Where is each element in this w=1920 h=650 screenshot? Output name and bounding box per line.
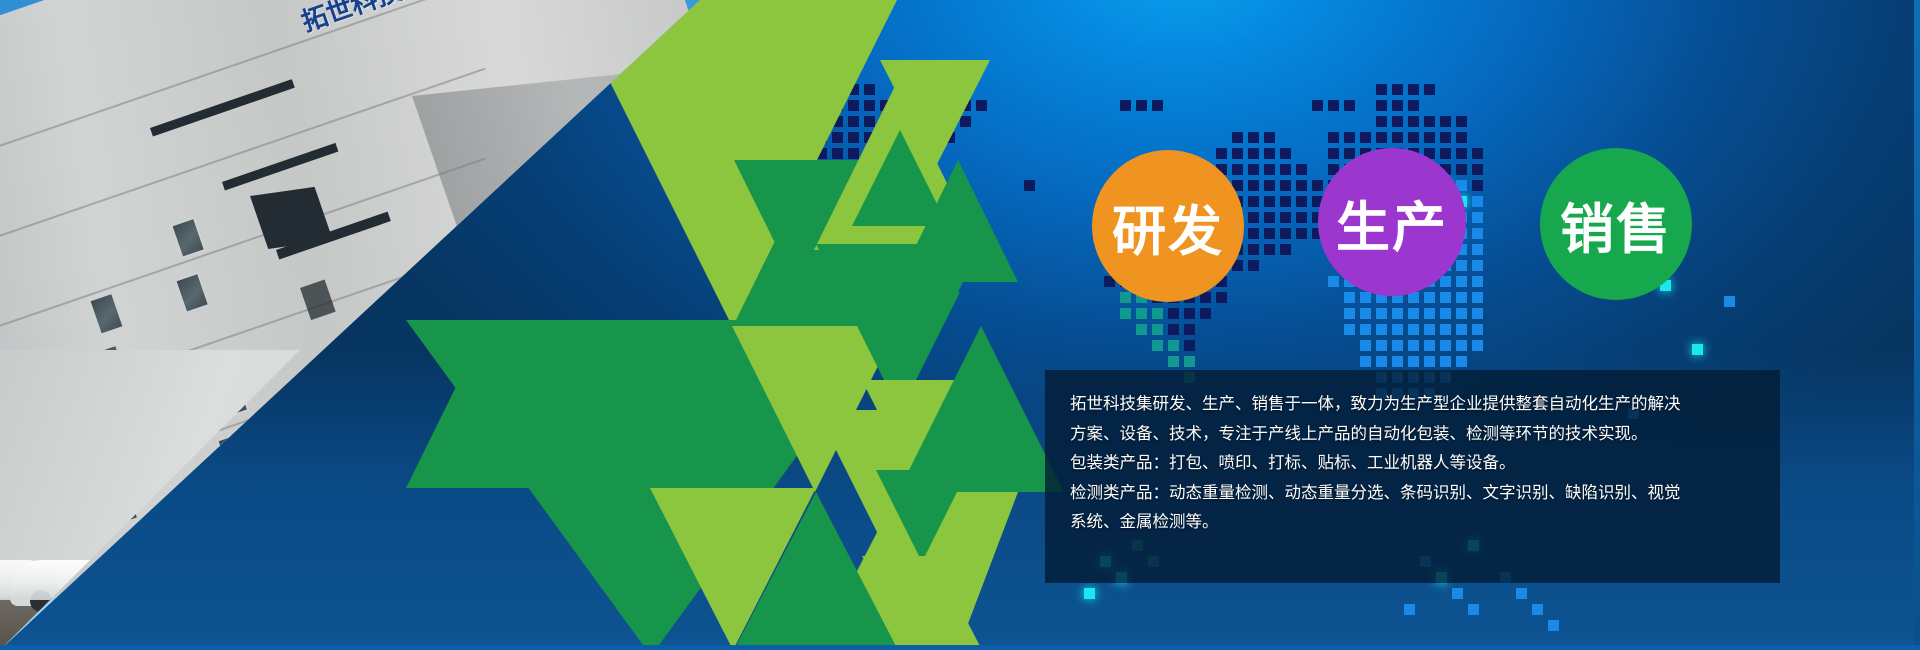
- map-dot: [1248, 260, 1259, 271]
- map-dot: [1472, 260, 1483, 271]
- map-dot: [1456, 116, 1467, 127]
- map-dot: [1472, 308, 1483, 319]
- map-dot: [1184, 308, 1195, 319]
- description-text: 拓世科技集研发、生产、销售于一体，致力为生产型企业提供整套自动化生产的解决 方案…: [1070, 389, 1681, 537]
- map-dot: [1440, 308, 1451, 319]
- description-line-3: 包装类产品：打包、喷印、打标、贴标、工业机器人等设备。: [1070, 448, 1681, 478]
- map-dot: [1328, 276, 1339, 287]
- map-dot: [1168, 324, 1179, 335]
- map-dot: [1408, 340, 1419, 351]
- badge-sales-label: 销售: [1560, 185, 1672, 264]
- map-dot: [1360, 356, 1371, 367]
- map-dot: [1424, 84, 1435, 95]
- map-dot: [1440, 116, 1451, 127]
- map-dot: [1456, 308, 1467, 319]
- map-dot: [1456, 148, 1467, 159]
- map-dot: [1376, 116, 1387, 127]
- map-dot: [1296, 196, 1307, 207]
- map-dot: [1248, 180, 1259, 191]
- map-dot: [1440, 276, 1451, 287]
- badge-sales[interactable]: 销售: [1540, 148, 1692, 300]
- map-dot: [1456, 340, 1467, 351]
- map-dot: [1376, 100, 1387, 111]
- map-dot: [1184, 324, 1195, 335]
- map-dot: [1408, 324, 1419, 335]
- map-dot: [1120, 100, 1131, 111]
- map-dot: [1456, 164, 1467, 175]
- map-dot: [1328, 132, 1339, 143]
- map-dot: [1456, 356, 1467, 367]
- map-dot: [1456, 292, 1467, 303]
- map-dot: [1408, 116, 1419, 127]
- map-dot: [1264, 244, 1275, 255]
- map-dot: [1248, 196, 1259, 207]
- map-dot: [1472, 324, 1483, 335]
- description-line-4: 检测类产品：动态重量检测、动态重量分选、条码识别、文字识别、缺陷识别、视觉: [1070, 478, 1681, 508]
- map-dot: [1248, 132, 1259, 143]
- map-dot: [1280, 212, 1291, 223]
- map-dot: [1136, 100, 1147, 111]
- map-dot: [1264, 164, 1275, 175]
- map-dot: [1120, 292, 1131, 303]
- map-dot: [1376, 308, 1387, 319]
- description-line-2: 方案、设备、技术，专注于产线上产品的自动化包装、检测等环节的技术实现。: [1070, 419, 1681, 449]
- map-dot: [1440, 148, 1451, 159]
- map-dot: [1408, 100, 1419, 111]
- badge-rd[interactable]: 研发: [1092, 150, 1244, 302]
- map-dot: [1408, 308, 1419, 319]
- map-dot: [1344, 132, 1355, 143]
- map-dot-accent: [1452, 588, 1463, 599]
- map-dot: [1248, 164, 1259, 175]
- map-dot: [1168, 340, 1179, 351]
- map-dot: [1280, 148, 1291, 159]
- badge-production-label: 生产: [1336, 183, 1448, 262]
- map-dot: [1440, 292, 1451, 303]
- map-dot: [1136, 324, 1147, 335]
- map-dot: [1424, 308, 1435, 319]
- map-dot: [1280, 196, 1291, 207]
- map-dot: [1376, 324, 1387, 335]
- map-dot: [1376, 132, 1387, 143]
- map-dot: [1440, 132, 1451, 143]
- map-dot: [1296, 212, 1307, 223]
- map-dot: [1392, 84, 1403, 95]
- map-dot: [1376, 84, 1387, 95]
- map-dot: [1344, 292, 1355, 303]
- map-dot: [1216, 148, 1227, 159]
- map-dot: [1248, 148, 1259, 159]
- map-dot: [1296, 228, 1307, 239]
- map-dot: [1408, 132, 1419, 143]
- map-dot: [1264, 212, 1275, 223]
- map-dot: [1392, 356, 1403, 367]
- map-dot: [1184, 356, 1195, 367]
- map-dot: [1360, 340, 1371, 351]
- map-dot-accent: [1548, 620, 1559, 631]
- map-dot: [1248, 212, 1259, 223]
- map-dot: [1296, 180, 1307, 191]
- map-dot: [1472, 180, 1483, 191]
- map-dot: [1472, 212, 1483, 223]
- map-dot-accent: [1404, 604, 1415, 615]
- map-dot: [1392, 116, 1403, 127]
- map-dot: [1392, 132, 1403, 143]
- map-dot: [1232, 148, 1243, 159]
- map-dot: [1152, 308, 1163, 319]
- map-dot: [1392, 100, 1403, 111]
- map-dot: [1472, 340, 1483, 351]
- map-dot: [1424, 356, 1435, 367]
- map-dot: [1456, 132, 1467, 143]
- map-dot: [1424, 324, 1435, 335]
- map-dot-accent: [1468, 604, 1479, 615]
- map-dot: [1152, 324, 1163, 335]
- map-dot: [1328, 148, 1339, 159]
- map-dot: [1360, 292, 1371, 303]
- map-dot: [1152, 340, 1163, 351]
- map-dot: [1376, 356, 1387, 367]
- map-dot: [1408, 84, 1419, 95]
- map-dot: [1264, 132, 1275, 143]
- map-dot: [1472, 276, 1483, 287]
- map-dot: [1424, 116, 1435, 127]
- map-dot: [1120, 308, 1131, 319]
- map-dot: [1184, 340, 1195, 351]
- description-panel: 拓世科技集研发、生产、销售于一体，致力为生产型企业提供整套自动化生产的解决 方案…: [1045, 370, 1780, 583]
- map-dot: [1456, 324, 1467, 335]
- company-hero-banner: 拓世科技 研发 生产 销售 拓世科技集研发、生产、销售于一体，致力为生产型企业提…: [0, 0, 1920, 650]
- map-dot-accent: [1532, 604, 1543, 615]
- map-dot: [1472, 244, 1483, 255]
- map-dot: [1200, 308, 1211, 319]
- map-dot: [1472, 228, 1483, 239]
- map-dot: [1424, 292, 1435, 303]
- map-dot-accent: [1724, 296, 1735, 307]
- map-dot: [1344, 100, 1355, 111]
- map-dot: [1456, 276, 1467, 287]
- badge-rd-label: 研发: [1112, 187, 1224, 266]
- map-dot: [1280, 244, 1291, 255]
- map-dot: [1392, 324, 1403, 335]
- map-dot: [1280, 228, 1291, 239]
- bottom-edge-rim: [0, 645, 1920, 650]
- map-dot: [1424, 340, 1435, 351]
- map-dot: [1264, 148, 1275, 159]
- map-dot: [1168, 356, 1179, 367]
- map-dot: [1456, 260, 1467, 271]
- map-dot: [1440, 340, 1451, 351]
- map-dot-accent: [1692, 344, 1703, 355]
- map-dot: [1344, 308, 1355, 319]
- map-dot: [1248, 244, 1259, 255]
- description-line-1: 拓世科技集研发、生产、销售于一体，致力为生产型企业提供整套自动化生产的解决: [1070, 389, 1681, 419]
- map-dot: [1312, 180, 1323, 191]
- badge-production[interactable]: 生产: [1318, 148, 1466, 296]
- map-dot: [1440, 324, 1451, 335]
- map-dot: [1264, 180, 1275, 191]
- map-dot: [1360, 132, 1371, 143]
- map-dot: [1472, 164, 1483, 175]
- map-dot: [1408, 356, 1419, 367]
- map-dot: [1360, 308, 1371, 319]
- map-dot: [1136, 308, 1147, 319]
- map-dot: [1344, 324, 1355, 335]
- map-dot: [1440, 356, 1451, 367]
- map-dot: [1232, 132, 1243, 143]
- map-dot: [1152, 100, 1163, 111]
- map-dot: [1360, 324, 1371, 335]
- map-dot-accent: [1084, 588, 1095, 599]
- map-dot: [1168, 308, 1179, 319]
- map-dot: [1472, 292, 1483, 303]
- map-dot: [1472, 148, 1483, 159]
- map-dot: [1392, 308, 1403, 319]
- description-line-5: 系统、金属检测等。: [1070, 507, 1681, 537]
- map-dot: [1248, 228, 1259, 239]
- map-dot: [1392, 340, 1403, 351]
- map-dot: [1280, 180, 1291, 191]
- map-dot: [1264, 196, 1275, 207]
- map-dot: [1264, 228, 1275, 239]
- map-dot: [1296, 164, 1307, 175]
- map-dot: [1312, 100, 1323, 111]
- map-dot-accent: [1516, 588, 1527, 599]
- map-dot: [1328, 100, 1339, 111]
- map-dot: [1280, 164, 1291, 175]
- map-dot: [1232, 164, 1243, 175]
- right-edge-rim: [1914, 0, 1920, 650]
- map-dot: [1424, 132, 1435, 143]
- map-dot: [1472, 196, 1483, 207]
- map-dot: [1376, 340, 1387, 351]
- map-dot: [1216, 292, 1227, 303]
